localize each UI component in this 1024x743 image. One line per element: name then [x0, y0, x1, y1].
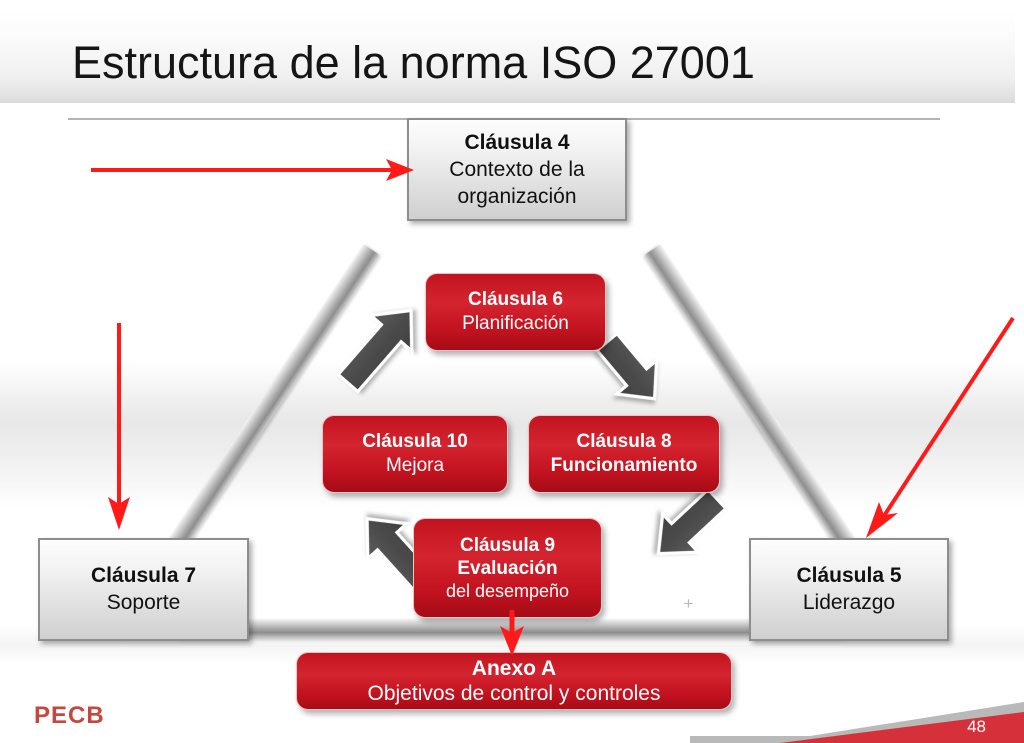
background-wash-band — [0, 360, 1024, 510]
box-clause-4-line3: organización — [457, 183, 576, 210]
box-clause-7-line1: Cláusula 7 — [91, 563, 196, 589]
box-clause-8-line1: Cláusula 8 — [576, 430, 671, 454]
box-clause-9-line2: Evaluación — [457, 557, 557, 580]
pecb-logo: PECB — [34, 702, 105, 730]
box-clause-4[interactable]: Cláusula 4 Contexto de la organización — [407, 118, 627, 221]
box-clause-8-line2: Funcionamiento — [551, 454, 698, 478]
box-annex-a-line1: Anexo A — [472, 656, 556, 681]
box-clause-4-line1: Cláusula 4 — [464, 130, 569, 156]
box-clause-10-line1: Cláusula 10 — [362, 430, 468, 454]
box-clause-7[interactable]: Cláusula 7 Soporte — [38, 538, 249, 641]
box-clause-5-line2: Liderazgo — [803, 589, 895, 616]
box-clause-9-line3: del desempeño — [446, 580, 569, 603]
box-clause-8[interactable]: Cláusula 8 Funcionamiento — [528, 415, 720, 493]
triangle-bar-bottom — [178, 619, 846, 638]
box-clause-5[interactable]: Cláusula 5 Liderazgo — [749, 538, 949, 641]
box-clause-6-line2: Planificación — [462, 312, 569, 336]
slide-canvas: Estructura de la norma ISO 27001 Cláusul… — [0, 0, 1024, 743]
box-clause-4-line2: Contexto de la — [449, 156, 584, 183]
page-number: 48 — [967, 717, 986, 737]
box-annex-a-line2: Objetivos de control y controles — [368, 681, 661, 707]
box-annex-a[interactable]: Anexo A Objetivos de control y controles — [296, 652, 732, 710]
crosshair-cursor-icon: + — [681, 596, 696, 611]
box-clause-6-line1: Cláusula 6 — [468, 288, 563, 312]
box-clause-9-line1: Cláusula 9 — [460, 534, 555, 557]
box-clause-10-line2: Mejora — [386, 454, 444, 478]
box-clause-5-line1: Cláusula 5 — [796, 563, 901, 589]
box-clause-7-line2: Soporte — [107, 589, 181, 616]
page-title: Estructura de la norma ISO 27001 — [72, 37, 755, 89]
box-clause-9[interactable]: Cláusula 9 Evaluación del desempeño — [413, 518, 602, 618]
box-clause-10[interactable]: Cláusula 10 Mejora — [322, 415, 508, 493]
box-clause-6[interactable]: Cláusula 6 Planificación — [425, 273, 606, 351]
annotation-arrow-to-clause4-icon — [91, 159, 414, 181]
